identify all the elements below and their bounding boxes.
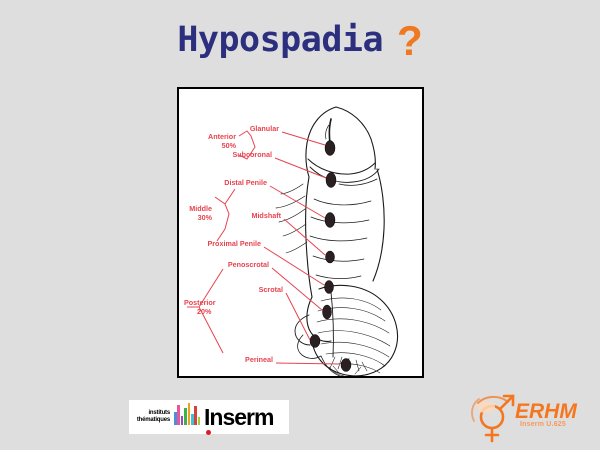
label-midshaft: Midshaft [251,211,281,220]
label-middle-name: Middle [189,204,212,213]
label-anterior-percent: 50% [222,141,237,150]
anatomy-drawing [276,107,398,376]
meatus-markers [310,141,351,372]
leader-lines [264,132,340,364]
inserm-instituts-thematiques: instituts thématiques [132,410,170,424]
inserm-wordmark-wrap: Inserm [204,406,273,429]
erhm-subtitle: Inserm U.625 [520,421,566,428]
inserm-logo: instituts thématiques Inserm [129,400,289,434]
question-mark-glyph: ? [397,17,423,64]
label-subcoronal: Subcoronal [232,150,272,159]
label-posterior-name: Posterior [184,298,216,307]
label-scrotal: Scrotal [259,285,283,294]
bracket-middle-upper [225,189,235,204]
inserm-red-dot-icon [206,430,211,435]
inserm-instituts-line1: instituts [132,410,170,417]
marker-glanular [325,141,335,156]
marker-proximal-penile [325,281,334,294]
marker-scrotal [310,335,320,348]
label-glanular: Glanular [250,124,279,133]
bracket-middle [215,197,229,241]
inserm-wordmark: Inserm [204,404,273,430]
hypospadias-diagram-panel: Glanular Subcoronal Distal Penile Midsha… [177,87,424,378]
label-posterior-percent: 20% [197,307,212,316]
marker-distal-penile [325,213,335,228]
marker-midshaft [326,251,335,263]
label-distal-penile: Distal Penile [224,178,267,187]
marker-penoscrotal [323,305,332,319]
label-penoscrotal: Penoscrotal [228,260,269,269]
label-proximal-penile: Proximal Penile [207,239,261,248]
label-perineal: Perineal [245,355,273,364]
page-title-text: Hypospadia [177,20,383,60]
page-title: Hypospadia? [0,16,600,64]
erhm-wordmark: ERHM [515,401,577,422]
label-middle-percent: 30% [198,213,213,222]
label-anterior-name: Anterior [208,132,236,141]
hypospadias-diagram-svg: Glanular Subcoronal Distal Penile Midsha… [179,89,422,376]
erhm-logo: ERHM Inserm U.625 [466,391,590,443]
inserm-bars-icon [174,405,200,429]
marker-perineal [341,359,351,372]
marker-subcoronal [326,173,336,188]
inserm-instituts-line2: thématiques [132,417,170,424]
